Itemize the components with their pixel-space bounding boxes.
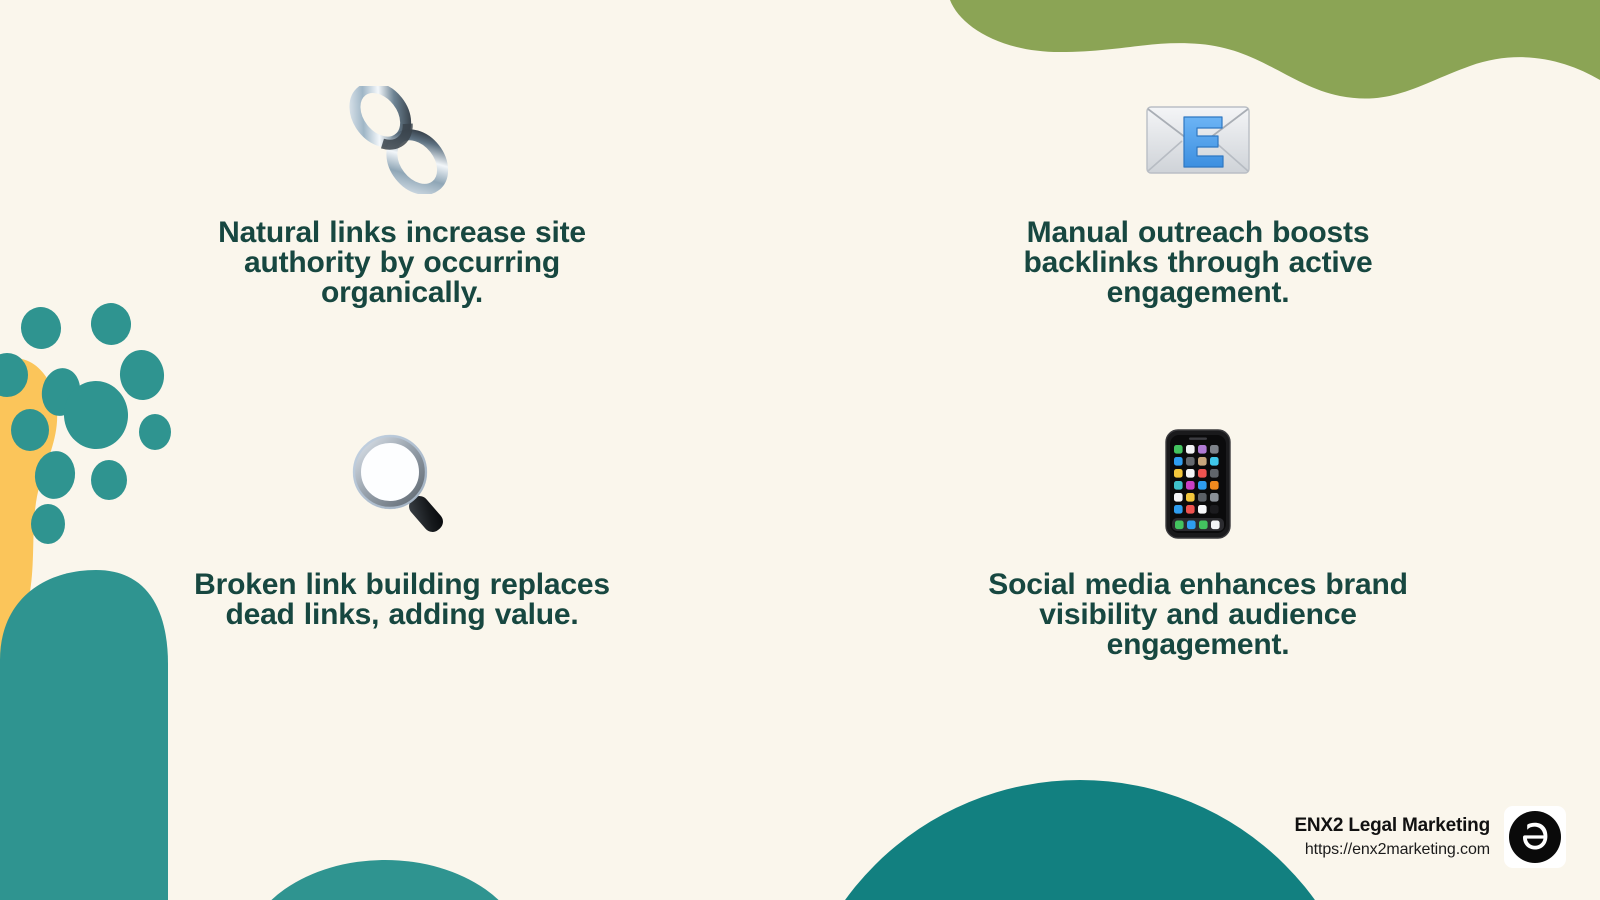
card-title: Broken link building replaces dead links… bbox=[182, 570, 622, 630]
email-envelope-icon bbox=[1142, 88, 1254, 192]
card-title: Manual outreach boosts backlinks through… bbox=[978, 218, 1418, 308]
brand-logo-plate bbox=[1504, 806, 1566, 868]
brand-footer: ENX2 Legal Marketing https://enx2marketi… bbox=[1294, 806, 1566, 868]
mobile-phone-icon bbox=[1161, 432, 1235, 536]
brand-url[interactable]: https://enx2marketing.com bbox=[1305, 840, 1490, 860]
card-title: Natural links increase site authority by… bbox=[182, 218, 622, 308]
brand-name: ENX2 Legal Marketing bbox=[1294, 814, 1490, 838]
card-title: Social media enhances brand visibility a… bbox=[978, 570, 1418, 660]
brand-text-block: ENX2 Legal Marketing https://enx2marketi… bbox=[1294, 814, 1490, 861]
enx2-schwa-logo bbox=[1509, 811, 1561, 863]
infographic-canvas: Natural links increase site authority by… bbox=[0, 0, 1600, 900]
cards-grid: Natural links increase site authority by… bbox=[0, 0, 1600, 760]
bottom-teal-dome bbox=[243, 860, 527, 900]
card-social-media: Social media enhances brand visibility a… bbox=[800, 380, 1600, 760]
card-natural-links: Natural links increase site authority by… bbox=[0, 0, 800, 380]
bottom-right-teal-circle bbox=[790, 780, 1370, 900]
card-broken-link-building: Broken link building replaces dead links… bbox=[0, 380, 800, 760]
chain-link-icon bbox=[344, 88, 456, 192]
magnifying-glass-icon bbox=[344, 432, 456, 536]
card-manual-outreach: Manual outreach boosts backlinks through… bbox=[800, 0, 1600, 380]
